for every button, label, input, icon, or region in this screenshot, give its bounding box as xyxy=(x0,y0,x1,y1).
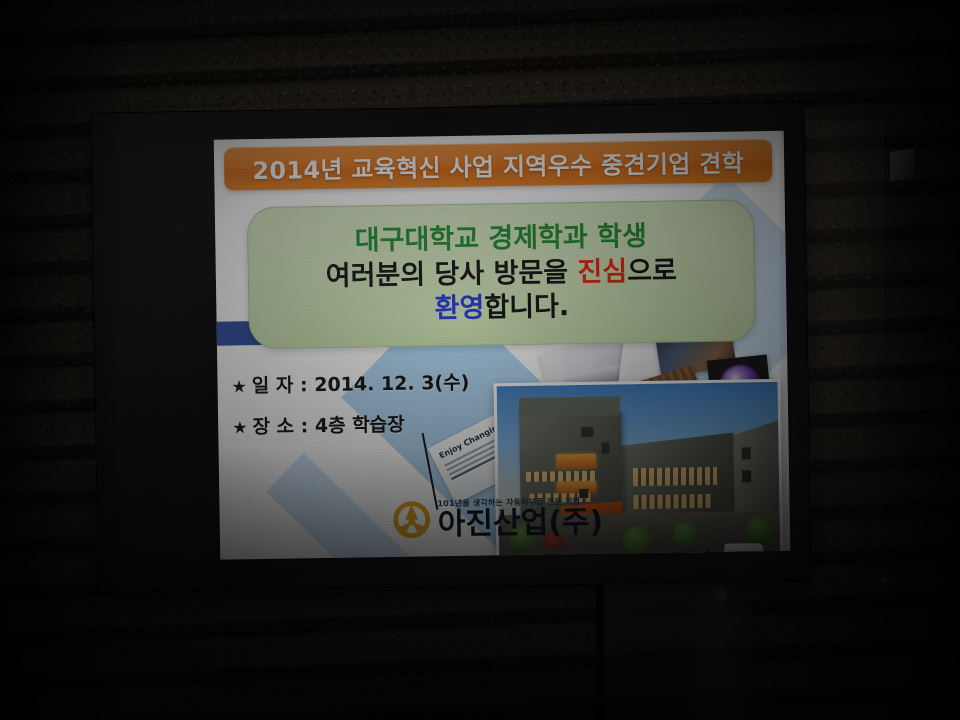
car-icon xyxy=(668,552,705,560)
welcome-line-3: 환영합니다. xyxy=(434,292,569,327)
welcome-line-2: 여러분의 당사 방문을 진심으로 xyxy=(326,255,678,293)
window-small xyxy=(742,471,751,483)
welcome-message-box: 대구대학교 경제학과 학생 여러분의 당사 방문을 진심으로 환영합니다. xyxy=(247,199,756,349)
window-small xyxy=(601,442,610,454)
company-logo-block: 101년을 생각하는 자동차부품 전문 기업 아진산업(주) xyxy=(391,496,603,541)
detail-label-date: 일 자 : xyxy=(252,374,308,397)
detail-label-place: 장 소 : xyxy=(252,415,308,438)
slide-title-banner: 2014년 교육혁신 사업 지역우수 중견기업 견학 xyxy=(224,139,773,191)
window-row xyxy=(526,471,596,482)
window-accent xyxy=(557,481,597,493)
scene-shadow-left xyxy=(0,0,118,720)
star-icon: ★ xyxy=(232,418,248,438)
event-details: ★일 자 : 2014. 12. 3(수) ★장 소 : 4층 학습장 xyxy=(231,374,470,460)
window-small xyxy=(582,427,593,437)
window-row xyxy=(633,494,712,509)
window-accent xyxy=(557,454,597,468)
welcome-highlight-welcome: 환영 xyxy=(434,293,484,325)
welcome-line-2-suffix: 으로 xyxy=(627,255,677,287)
presentation-slide: 2014년 교육혁신 사업 지역우수 중견기업 견학 대구대학교 경제학과 학생… xyxy=(214,131,791,560)
slide-title-text: 2014년 교육혁신 사업 지역우수 중견기업 견학 xyxy=(252,143,744,186)
ajin-wheel-logo-icon xyxy=(391,500,432,541)
person-icon xyxy=(654,557,657,560)
welcome-line-1: 대구대학교 경제학과 학생 xyxy=(355,221,648,259)
detail-value-date: 2014. 12. 3(수) xyxy=(314,372,469,396)
star-icon: ★ xyxy=(231,377,247,397)
lit-door-panel xyxy=(602,560,694,720)
welcome-line-2-prefix: 여러분의 당사 방문을 xyxy=(326,257,578,292)
welcome-highlight-sincerely: 진심 xyxy=(577,256,627,288)
window-row xyxy=(633,467,718,486)
tree-icon xyxy=(673,521,699,546)
company-name: 아진산업(주) xyxy=(438,508,604,540)
person-icon xyxy=(716,552,719,560)
person-icon xyxy=(707,548,710,559)
tree-icon xyxy=(622,526,651,553)
photo-scene: 2014년 교육혁신 사업 지역우수 중견기업 견학 대구대학교 경제학과 학생… xyxy=(0,0,960,720)
door-handle-icon xyxy=(716,588,727,599)
detail-row-date: ★일 자 : 2014. 12. 3(수) xyxy=(231,374,469,397)
window-small xyxy=(742,448,751,460)
detail-value-place: 4층 학습장 xyxy=(315,414,405,437)
welcome-line-3-suffix: 합니다. xyxy=(484,292,569,324)
wall-mounted-display[interactable]: 2014년 교육혁신 사업 지역우수 중견기업 견학 대구대학교 경제학과 학생… xyxy=(91,102,810,591)
company-logo-text: 101년을 생각하는 자동차부품 전문 기업 아진산업(주) xyxy=(437,496,603,540)
scene-shadow-right xyxy=(780,0,960,720)
car-icon xyxy=(724,543,764,557)
detail-row-place: ★장 소 : 4층 학습장 xyxy=(232,415,470,438)
building-left-roof xyxy=(519,396,621,417)
